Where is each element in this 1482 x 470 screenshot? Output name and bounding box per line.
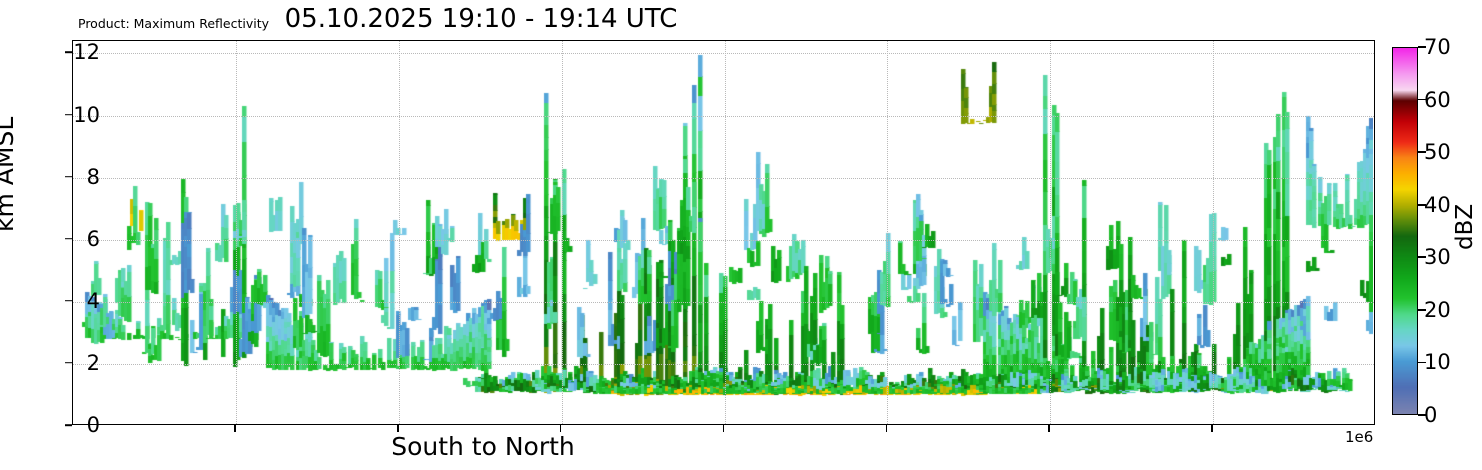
y-gridline (73, 178, 1374, 180)
x-gridline (1213, 41, 1215, 424)
colorbar-tick-label: 70 (1424, 35, 1451, 59)
x-gridline (1050, 41, 1052, 424)
x-tick-mark (560, 425, 562, 432)
colorbar-tick-label: 50 (1424, 140, 1451, 164)
y-gridline (73, 302, 1374, 304)
radar-cross-section-figure: 05.10.2025 19:10 - 19:14 UTC Product: Ma… (0, 0, 1482, 470)
x-axis-label: South to North (0, 432, 1482, 461)
x-tick-mark (397, 425, 399, 432)
y-gridline (73, 364, 1374, 366)
x-gridline (725, 41, 727, 424)
x-tick-mark (1048, 425, 1050, 432)
x-gridline (562, 41, 564, 424)
colorbar-tick-label: 20 (1424, 298, 1451, 322)
y-gridline (73, 116, 1374, 118)
x-tick-mark (234, 425, 236, 432)
y-tick-label: 6 (40, 227, 100, 251)
colorbar-tick-label: 30 (1424, 245, 1451, 269)
plot-area (72, 40, 1375, 425)
colorbar (1392, 47, 1418, 415)
y-tick-label: 12 (40, 40, 100, 64)
product-label: Product: Maximum Reflectivity (78, 16, 269, 31)
x-tick-mark (1211, 425, 1213, 432)
x-tick-mark (723, 425, 725, 432)
colorbar-gradient (1392, 47, 1418, 415)
x-tick-mark (886, 425, 888, 432)
x-axis-offset-text: 1e6 (1345, 428, 1373, 446)
colorbar-canvas (1393, 48, 1417, 414)
y-tick-label: 8 (40, 165, 100, 189)
y-gridline (73, 53, 1374, 55)
colorbar-tick-label: 10 (1424, 350, 1451, 374)
x-gridline (236, 41, 238, 424)
y-gridline (73, 240, 1374, 242)
x-gridline (399, 41, 401, 424)
reflectivity-heatmap (73, 41, 1374, 424)
figure-title-text: 05.10.2025 19:10 - 19:14 UTC (285, 4, 678, 34)
y-tick-label: 2 (40, 351, 100, 375)
colorbar-title: dBZ (1452, 204, 1478, 250)
colorbar-tick-label: 0 (1424, 403, 1437, 427)
y-tick-label: 4 (40, 289, 100, 313)
colorbar-tick-label: 60 (1424, 88, 1451, 112)
y-axis-label: km AMSL (0, 117, 19, 232)
y-tick-label: 10 (40, 103, 100, 127)
x-axis-label-text: South to North (391, 432, 575, 461)
colorbar-tick-label: 40 (1424, 193, 1451, 217)
x-gridline (887, 41, 889, 424)
